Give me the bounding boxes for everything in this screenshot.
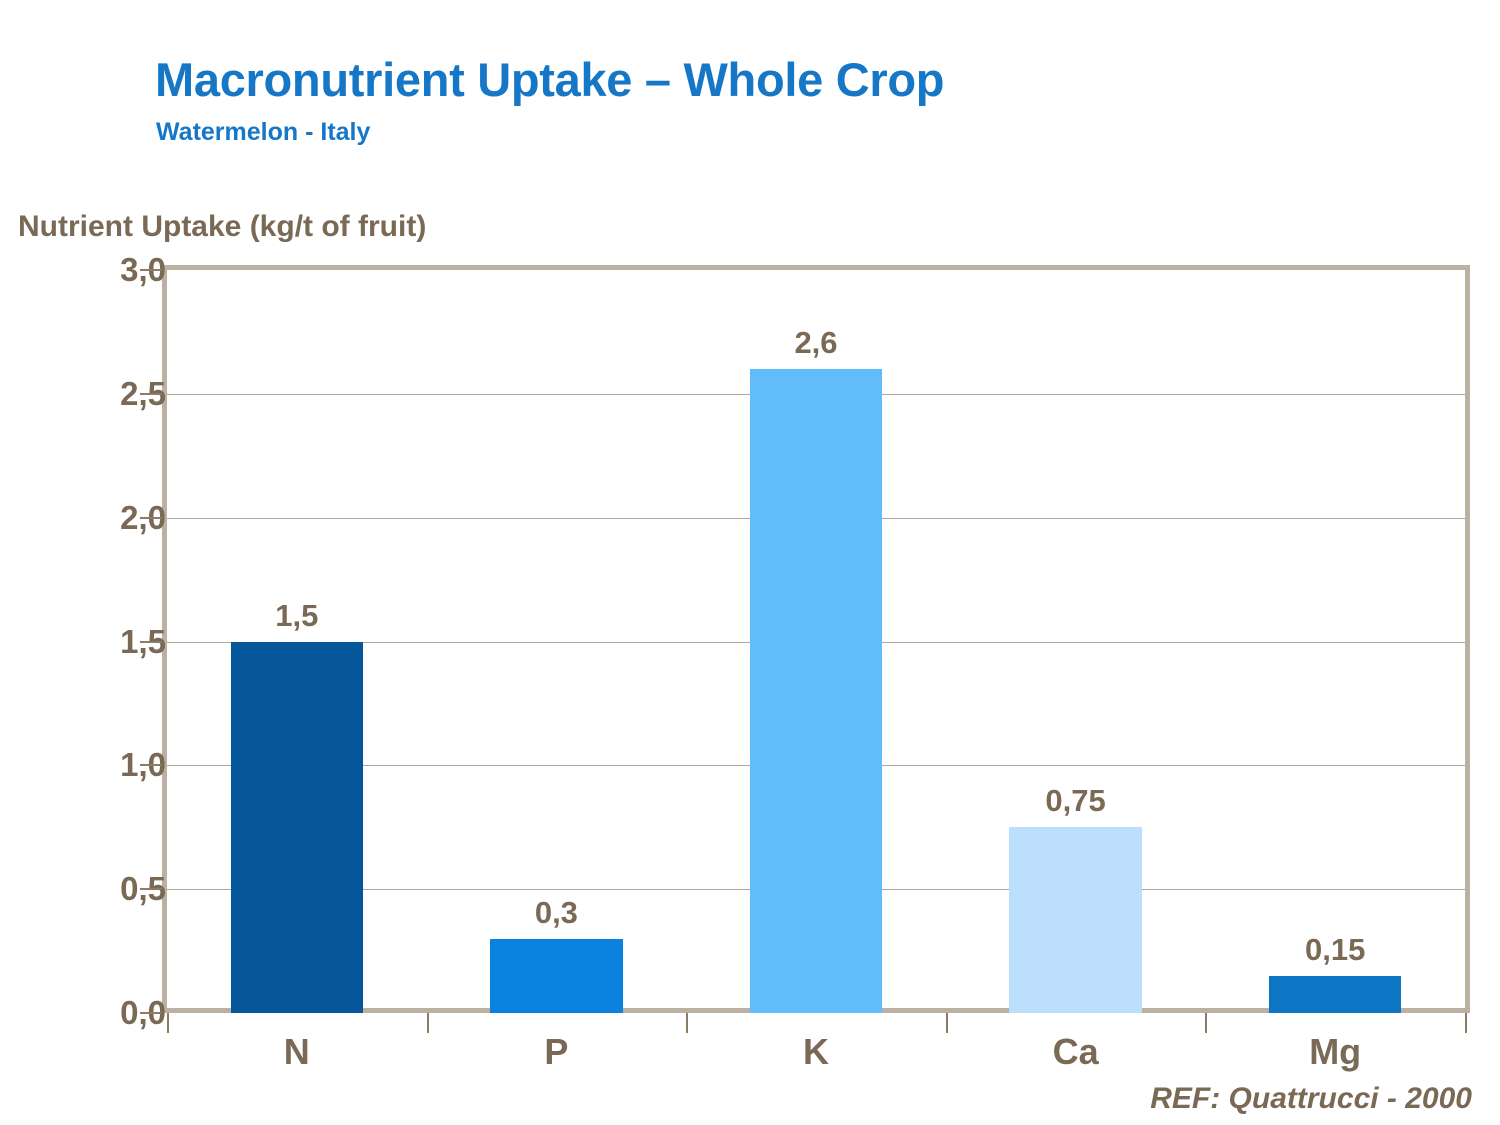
reference-note: REF: Quattrucci - 2000 [1150, 1082, 1472, 1116]
bar-value-label-p: 0,3 [490, 895, 622, 931]
x-axis-tick-mark [167, 1013, 169, 1033]
y-axis-tick-mark [140, 393, 162, 395]
page-title: Macronutrient Uptake – Whole Crop [155, 52, 944, 107]
y-axis-tick-mark [140, 1012, 162, 1014]
x-axis-tick-label-k: K [686, 1031, 946, 1073]
bar-n[interactable] [231, 642, 363, 1014]
y-axis-tick-mark [140, 517, 162, 519]
x-axis-tick-label-ca: Ca [946, 1031, 1206, 1073]
x-axis-tick-mark [427, 1013, 429, 1033]
slide-canvas: Macronutrient Uptake – Whole Crop Waterm… [0, 0, 1500, 1125]
x-axis-tick-label-p: P [427, 1031, 687, 1073]
bar-value-label-mg: 0,15 [1269, 932, 1401, 968]
bar-value-label-n: 1,5 [231, 598, 363, 634]
y-axis-tick-mark [140, 269, 162, 271]
bar-value-label-k: 2,6 [750, 325, 882, 361]
x-axis-tick-mark [686, 1013, 688, 1033]
y-axis-tick-mark [140, 641, 162, 643]
bar-ca[interactable] [1009, 827, 1141, 1013]
bar-k[interactable] [750, 369, 882, 1013]
x-axis-tick-mark [1465, 1013, 1467, 1033]
bar-p[interactable] [490, 939, 622, 1013]
chart-plot-area: 1,50,32,60,750,15 [167, 270, 1465, 1013]
y-axis-tick-mark [140, 764, 162, 766]
x-axis-tick-label-n: N [167, 1031, 427, 1073]
bar-mg[interactable] [1269, 976, 1401, 1013]
x-axis-tick-label-mg: Mg [1205, 1031, 1465, 1073]
page-subtitle: Watermelon - Italy [156, 118, 370, 147]
y-axis-title: Nutrient Uptake (kg/t of fruit) [18, 210, 426, 244]
bar-value-label-ca: 0,75 [1009, 783, 1141, 819]
y-axis-tick-mark [140, 888, 162, 890]
x-axis-tick-mark [1205, 1013, 1207, 1033]
x-axis-tick-mark [946, 1013, 948, 1033]
